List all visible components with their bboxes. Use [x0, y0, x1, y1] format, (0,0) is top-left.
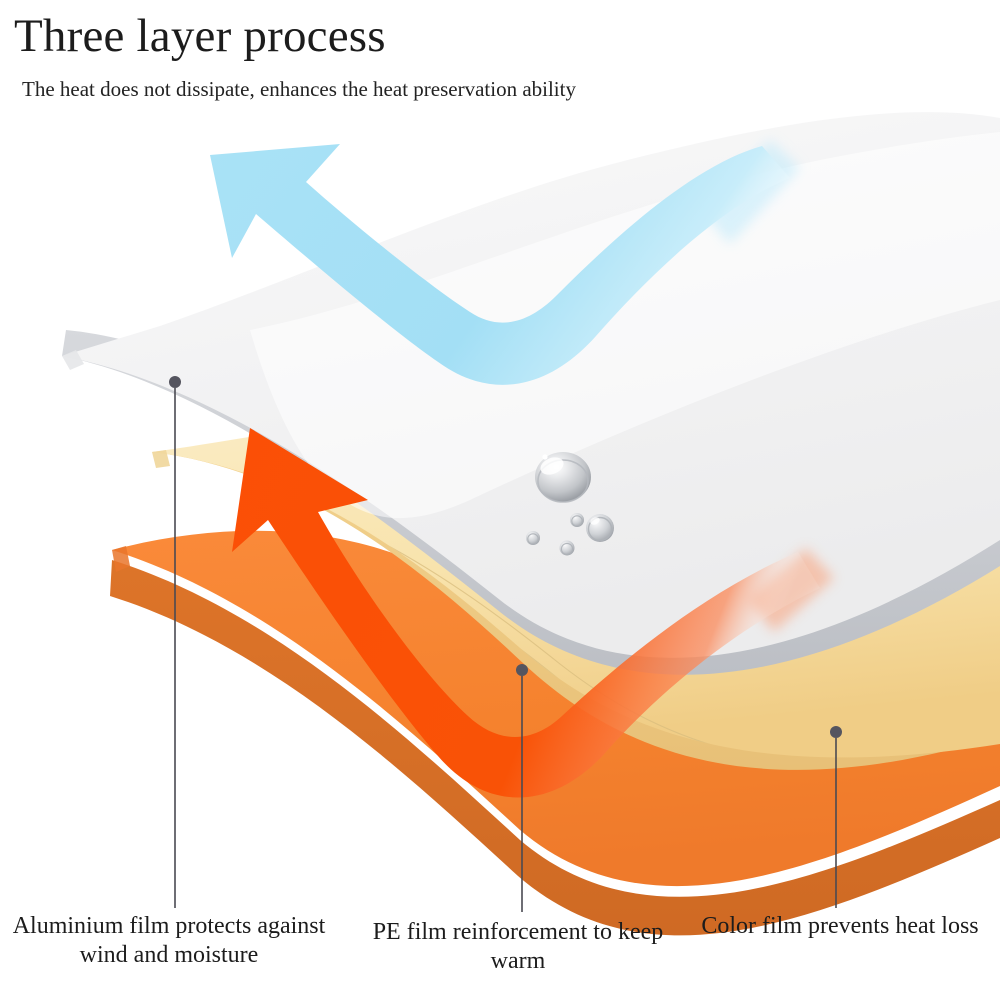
callout-dot-color[interactable]: [830, 726, 842, 738]
callout-dot-pe[interactable]: [516, 664, 528, 676]
layer-diagram-illustration: [0, 0, 1000, 1000]
callout-dot-aluminium[interactable]: [169, 376, 181, 388]
caption-pe-film: PE film reinforcement to keep warm: [368, 918, 668, 977]
water-droplet-medium: [586, 514, 614, 542]
caption-aluminium-film: Aluminium film protects against wind and…: [4, 912, 334, 971]
water-droplet-large-glint: [542, 454, 547, 459]
caption-color-film: Color film prevents heat loss: [690, 912, 990, 941]
infographic-canvas: Three layer process The heat does not di…: [0, 0, 1000, 1000]
aluminium-film-layer: [62, 112, 1000, 675]
